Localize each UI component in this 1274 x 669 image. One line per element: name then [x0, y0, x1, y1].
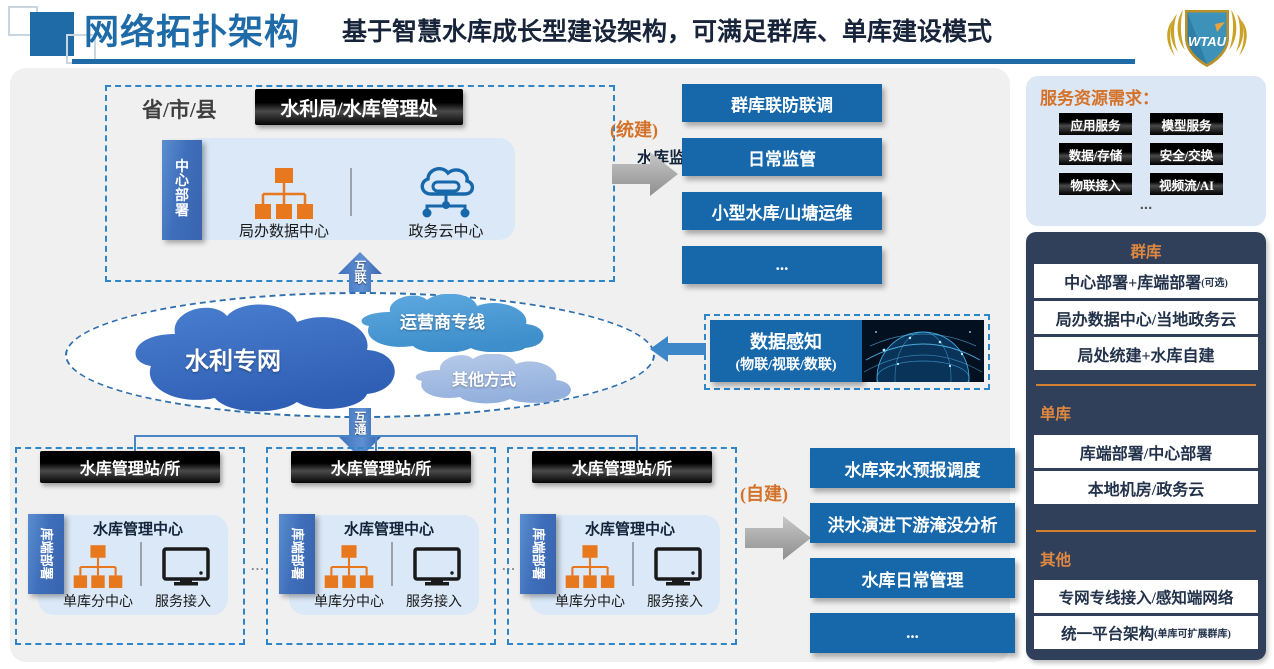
station-org-tree-icon-0 — [72, 545, 124, 594]
other-row-0[interactable]: 专网专线接入/感知端网络 — [1034, 580, 1258, 613]
station-card-title-1: 水库管理中心 — [299, 518, 479, 539]
resource-ellipsis: ... — [1026, 196, 1266, 213]
wtau-badge-icon: WTAU — [1155, 0, 1259, 74]
resource-chip-1[interactable]: 模型服务 — [1150, 113, 1223, 135]
self-box-3[interactable]: ... — [810, 613, 1015, 653]
globe-network-image — [862, 320, 984, 382]
org-tree-icon — [253, 168, 315, 225]
header-divider — [72, 59, 1135, 64]
station-card-title-0: 水库管理中心 — [48, 518, 228, 539]
resource-chip-3[interactable]: 安全/交换 — [1150, 143, 1223, 165]
org-label: 水利局/水库管理处 — [255, 89, 463, 125]
region-label: 省/市/县 — [142, 94, 217, 124]
card-divider — [350, 168, 352, 216]
badge-text: WTAU — [1188, 34, 1227, 49]
group-reservoir-row-0[interactable]: 中心部署+库端部署(可选) — [1034, 264, 1258, 298]
unified-box-0[interactable]: 群库联防联调 — [682, 84, 882, 122]
unified-box-1[interactable]: 日常监管 — [682, 138, 882, 176]
page-title: 网络拓扑架构 — [84, 4, 300, 55]
other-row-1-text: 统一平台架构 — [1061, 622, 1154, 644]
station-left-caption-2: 单库分中心 — [538, 591, 642, 611]
diagram-canvas: 省/市/县 水利局/水库管理处 中 心 部 署 水库监管中心 局办数据中心 — [10, 68, 1010, 662]
station-card-divider-0 — [140, 542, 142, 586]
station-header-0: 水库管理站/所 — [40, 451, 220, 483]
self-box-0[interactable]: 水库来水预报调度 — [810, 448, 1015, 488]
single-reservoir-heading: 单库 — [1026, 402, 1266, 424]
main-cloud-label: 水利专网 — [185, 341, 281, 376]
station-monitor-icon-1 — [413, 547, 461, 592]
station-ellipsis-0: ... — [251, 558, 265, 573]
station-card-divider-2 — [632, 542, 634, 586]
station-left-caption-0: 单库分中心 — [46, 591, 150, 611]
group-row-0-sup: (可选) — [1201, 274, 1228, 289]
header: 网络拓扑架构 基于智慧水库成长型建设架构，可满足群库、单库建设模式 WTAU — [0, 0, 1274, 66]
data-sense-arrow — [650, 334, 706, 369]
station-header-2: 水库管理站/所 — [532, 451, 712, 483]
deployment-modes-panel: 群库 中心部署+库端部署(可选) 局办数据中心/当地政务云 局处统建+水库自建 … — [1026, 232, 1266, 660]
other-row-1-sup: (单库可扩展群库) — [1154, 625, 1231, 640]
station-bus-line — [134, 435, 638, 437]
other-method-label: 其他方式 — [452, 366, 516, 390]
group-reservoir-row-2[interactable]: 局处统建+水库自建 — [1034, 337, 1258, 370]
service-resources-panel: 服务资源需求： 应用服务 模型服务 数据/存储 安全/交换 物联接入 视频流/A… — [1026, 76, 1266, 226]
resource-chip-5[interactable]: 视频流/AI — [1150, 173, 1223, 195]
interconnect-down-label: 互通 — [349, 411, 371, 437]
page-subtitle: 基于智慧水库成长型建设架构，可满足群库、单库建设模式 — [342, 12, 992, 48]
carrier-line-label: 运营商专线 — [400, 308, 485, 333]
station-card-divider-1 — [391, 542, 393, 586]
self-box-2[interactable]: 水库日常管理 — [810, 558, 1015, 598]
data-sense-line2: (物联/视联/数联) — [735, 354, 836, 374]
service-resources-title: 服务资源需求： — [1040, 84, 1159, 109]
group-reservoir-heading: 群库 — [1026, 240, 1266, 262]
station-org-tree-icon-2 — [564, 545, 616, 594]
resource-chip-2[interactable]: 数据/存储 — [1059, 143, 1132, 165]
data-sense-line1: 数据感知 — [750, 328, 822, 354]
station-right-caption-1: 服务接入 — [389, 591, 479, 611]
station-right-caption-2: 服务接入 — [630, 591, 720, 611]
self-box-1[interactable]: 洪水演进下游淹没分析 — [810, 503, 1015, 543]
self-note: (自建) — [740, 480, 788, 506]
group-reservoir-row-1[interactable]: 局办数据中心/当地政务云 — [1034, 301, 1258, 334]
station-header-1: 水库管理站/所 — [291, 451, 471, 483]
right-node-caption: 政务云中心 — [390, 220, 502, 241]
unified-box-2[interactable]: 小型水库/山塘运维 — [682, 192, 882, 230]
resource-chip-4[interactable]: 物联接入 — [1059, 173, 1132, 195]
panel-separator-2 — [1036, 530, 1256, 532]
cloud-network-icon — [415, 164, 477, 225]
other-heading: 其他 — [1026, 548, 1266, 570]
station-card-title-2: 水库管理中心 — [540, 518, 720, 539]
slide-root: 网络拓扑架构 基于智慧水库成长型建设架构，可满足群库、单库建设模式 WTAU — [0, 0, 1274, 669]
resource-chip-0[interactable]: 应用服务 — [1059, 113, 1132, 135]
self-gray-arrow — [745, 514, 811, 567]
interconnect-up-label: 互联 — [349, 260, 371, 286]
unified-box-3[interactable]: ... — [682, 246, 882, 284]
other-row-1[interactable]: 统一平台架构(单库可扩展群库) — [1034, 616, 1258, 649]
single-reservoir-row-0[interactable]: 库端部署/中心部署 — [1034, 435, 1258, 468]
station-monitor-icon-0 — [162, 547, 210, 592]
unified-gray-arrow — [612, 150, 678, 203]
unified-note: (统建) — [610, 116, 658, 142]
station-org-tree-icon-1 — [323, 545, 375, 594]
single-reservoir-row-1[interactable]: 本地机房/政务云 — [1034, 471, 1258, 504]
station-monitor-icon-2 — [654, 547, 702, 592]
group-row-0-text: 中心部署+库端部署 — [1064, 269, 1201, 293]
panel-separator-1 — [1036, 384, 1256, 386]
data-sense-box: 数据感知 (物联/视联/数联) — [710, 320, 862, 382]
left-node-caption: 局办数据中心 — [228, 220, 340, 241]
station-right-caption-0: 服务接入 — [138, 591, 228, 611]
station-left-caption-1: 单库分中心 — [297, 591, 401, 611]
